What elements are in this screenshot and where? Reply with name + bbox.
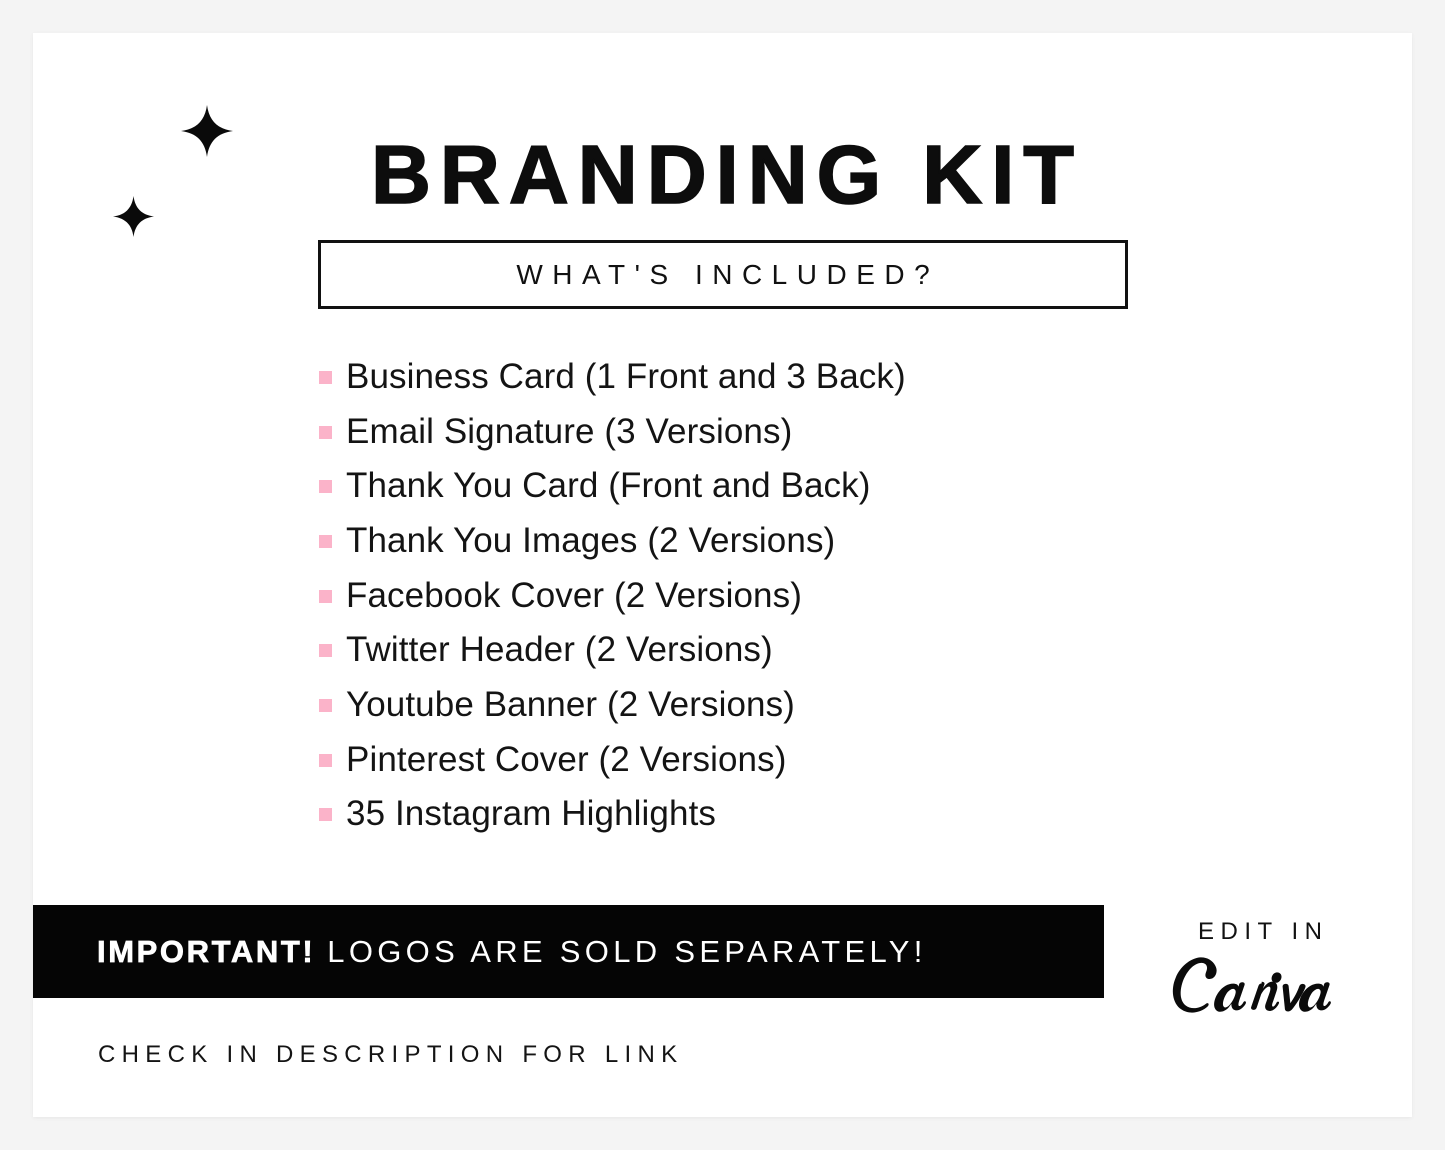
list-item-label: Business Card (1 Front and 3 Back) <box>346 359 906 394</box>
important-banner-text: IMPORTANT! LOGOS ARE SOLD SEPARATELY! <box>97 905 927 998</box>
list-item-label: 35 Instagram Highlights <box>346 796 716 831</box>
list-item: Thank You Card (Front and Back) <box>319 458 1319 513</box>
whats-included-box: WHAT'S INCLUDED? <box>318 240 1128 309</box>
canva-badge: EDIT IN <box>1160 920 1360 1018</box>
list-item: Business Card (1 Front and 3 Back) <box>319 349 1319 404</box>
list-item-label: Thank You Card (Front and Back) <box>346 468 871 503</box>
included-list: Business Card (1 Front and 3 Back) Email… <box>319 349 1319 841</box>
logos-sold-separately-label: LOGOS ARE SOLD SEPARATELY! <box>327 936 926 967</box>
whats-included-label: WHAT'S INCLUDED? <box>507 261 939 289</box>
list-item-label: Email Signature (3 Versions) <box>346 414 792 449</box>
canva-wordmark-icon <box>1169 952 1351 1018</box>
list-item: Facebook Cover (2 Versions) <box>319 568 1319 623</box>
list-item-label: Twitter Header (2 Versions) <box>346 632 773 667</box>
bullet-square-icon <box>319 754 332 767</box>
list-item: Pinterest Cover (2 Versions) <box>319 732 1319 787</box>
list-item: 35 Instagram Highlights <box>319 787 1319 842</box>
list-item: Youtube Banner (2 Versions) <box>319 677 1319 732</box>
list-item-label: Facebook Cover (2 Versions) <box>346 578 802 613</box>
poster-canvas: BRANDING KIT WHAT'S INCLUDED? Business C… <box>0 0 1445 1150</box>
bullet-square-icon <box>319 371 332 384</box>
bullet-square-icon <box>319 644 332 657</box>
list-item: Twitter Header (2 Versions) <box>319 622 1319 677</box>
list-item: Thank You Images (2 Versions) <box>319 513 1319 568</box>
list-item-label: Youtube Banner (2 Versions) <box>346 687 795 722</box>
list-item-label: Pinterest Cover (2 Versions) <box>346 742 786 777</box>
bullet-square-icon <box>319 808 332 821</box>
bullet-square-icon <box>319 480 332 493</box>
description-link-note: CHECK IN DESCRIPTION FOR LINK <box>98 1043 683 1067</box>
bullet-square-icon <box>319 535 332 548</box>
bullet-square-icon <box>319 699 332 712</box>
page-title: BRANDING KIT <box>0 133 1445 216</box>
bullet-square-icon <box>319 590 332 603</box>
bullet-square-icon <box>319 426 332 439</box>
list-item: Email Signature (3 Versions) <box>319 404 1319 459</box>
edit-in-label: EDIT IN <box>1160 920 1360 944</box>
important-label: IMPORTANT! <box>97 936 315 967</box>
list-item-label: Thank You Images (2 Versions) <box>346 523 835 558</box>
